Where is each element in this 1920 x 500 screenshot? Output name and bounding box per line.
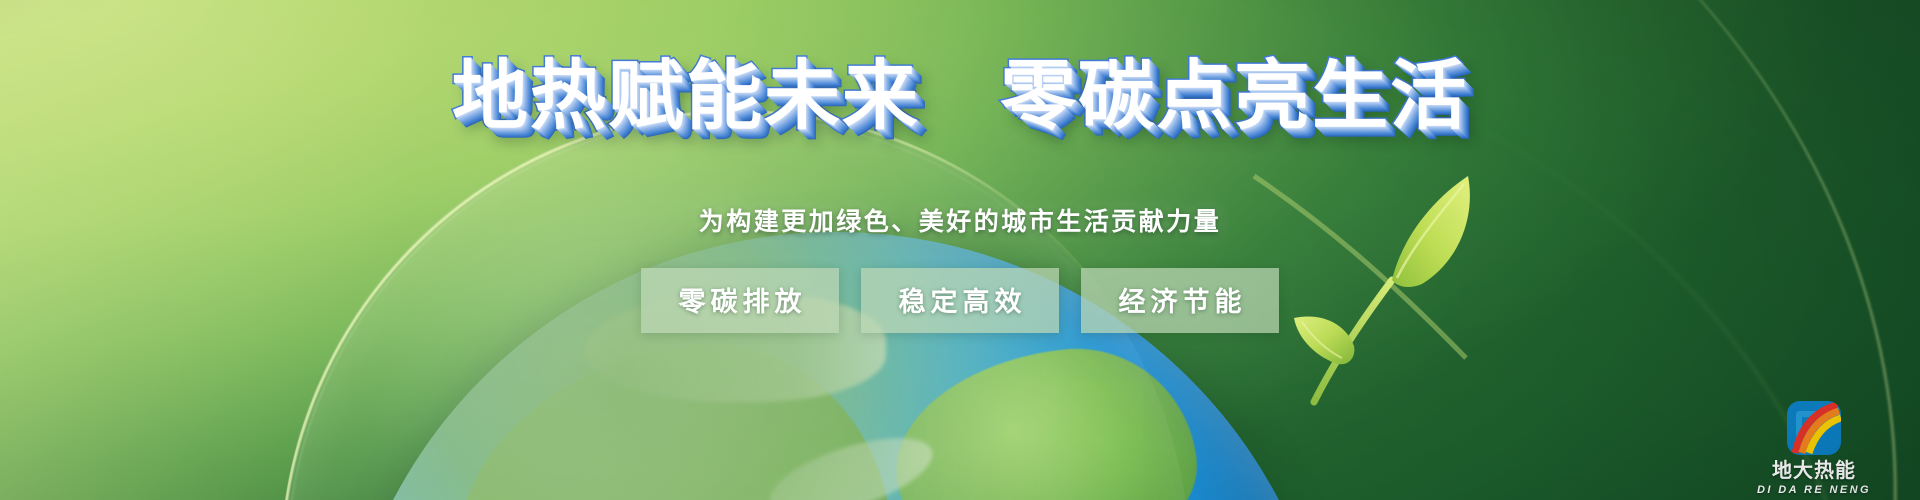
feature-badge[interactable]: 零碳排放: [641, 268, 839, 333]
feature-badge[interactable]: 稳定高效: [861, 268, 1059, 333]
logo-rainbow-icon: [1787, 401, 1841, 455]
promo-banner: 地热赋能未来 零碳点亮生活 为构建更加绿色、美好的城市生活贡献力量 零碳排放 稳…: [0, 0, 1920, 500]
headline-part-1: 地热赋能未来: [452, 54, 920, 139]
feature-badge[interactable]: 经济节能: [1081, 268, 1279, 333]
logo-pinyin-name: DI DA RE NENG: [1736, 485, 1892, 496]
logo-chinese-name: 地大热能: [1736, 461, 1892, 481]
headline-part-2: 零碳点亮生活: [1000, 54, 1468, 139]
banner-headline: 地热赋能未来 零碳点亮生活: [0, 56, 1920, 138]
banner-subtitle: 为构建更加绿色、美好的城市生活贡献力量: [0, 202, 1920, 238]
company-logo[interactable]: 地大热能 DI DA RE NENG: [1736, 401, 1892, 496]
feature-badge-list: 零碳排放 稳定高效 经济节能: [0, 268, 1920, 333]
